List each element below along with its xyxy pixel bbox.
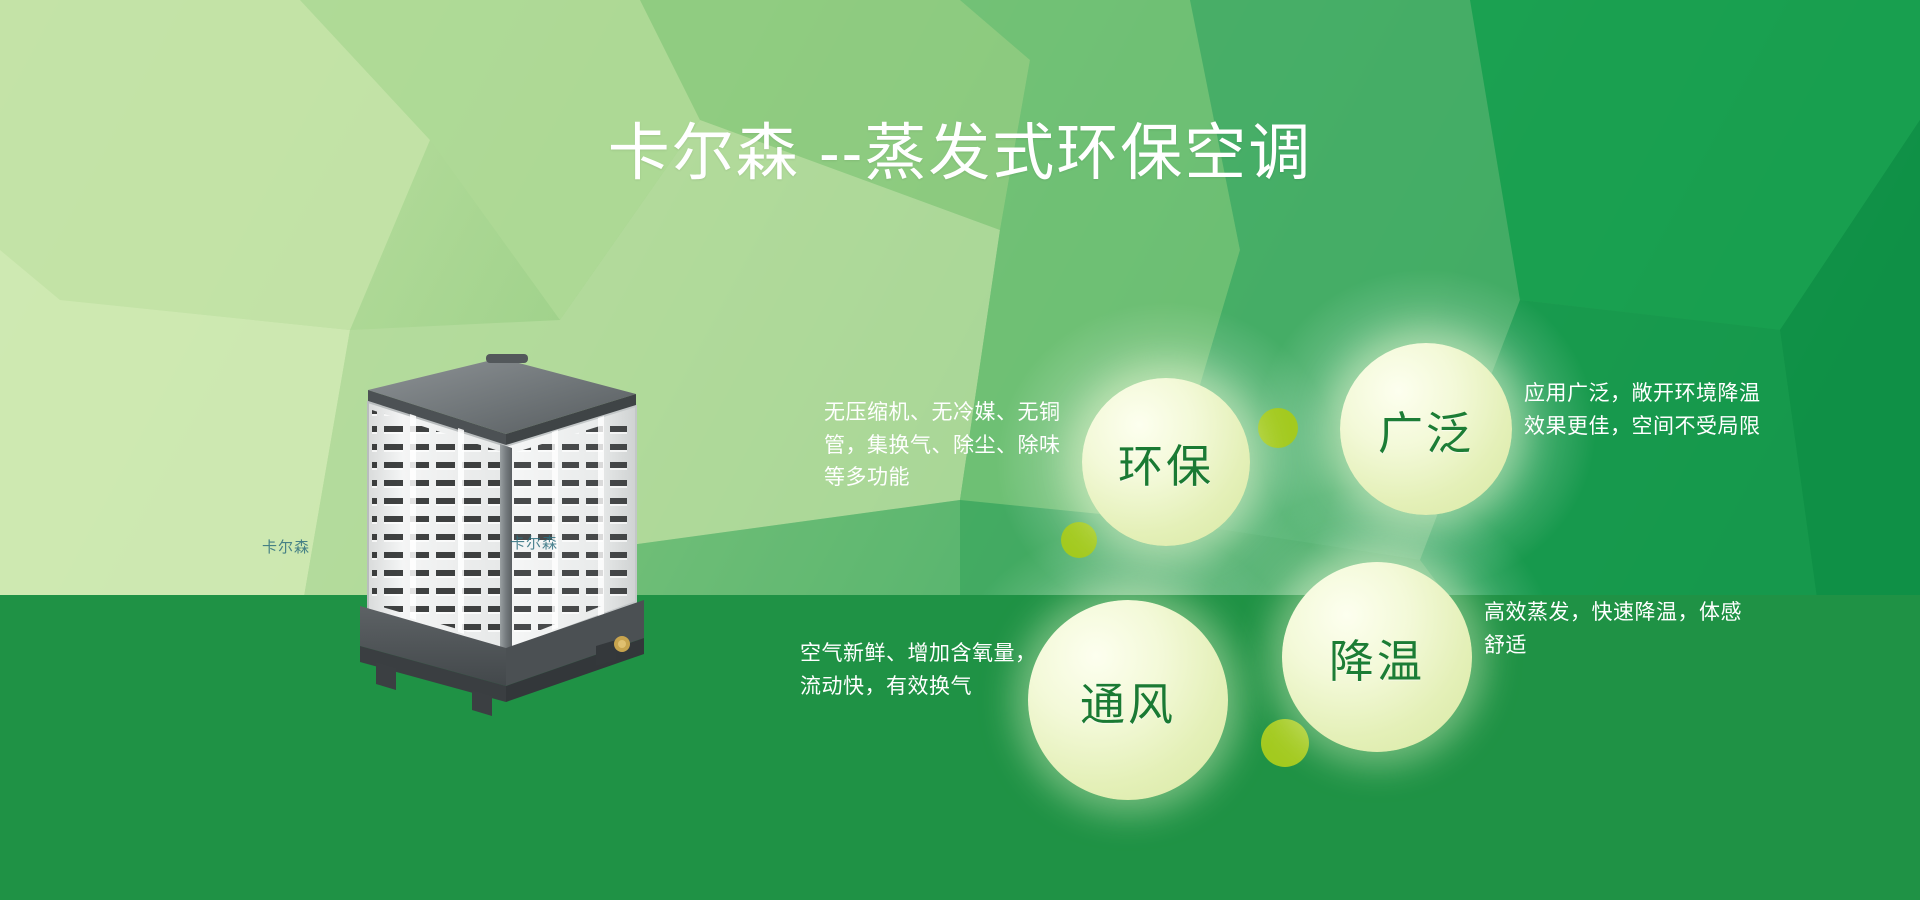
feature-caption-jiangwen: 高效蒸发，快速降温，体感舒适 — [1484, 597, 1759, 662]
product-brand-label-left: 卡尔森 — [262, 536, 310, 557]
feature-caption-huanbao: 无压缩机、无冷媒、无铜管，集换气、除尘、除味等多功能 — [824, 397, 1062, 495]
product-brand-label-right: 卡尔森 — [510, 532, 558, 553]
feature-bubble-label: 环保 — [1118, 430, 1214, 495]
page-title: 卡尔森 --蒸发式环保空调 — [0, 123, 1920, 185]
accent-dot-bottom — [1261, 719, 1309, 767]
product-image: 卡尔森 卡尔森 — [200, 350, 700, 750]
accent-dot-large — [1258, 408, 1298, 448]
feature-caption-tongfeng: 空气新鲜、增加含氧量，流动快，有效换气 — [800, 638, 1038, 703]
feature-bubble-guangfa: 广泛 — [1340, 343, 1512, 515]
feature-bubble-label: 通风 — [1080, 668, 1176, 733]
promo-banner: 卡尔森 --蒸发式环保空调 — [0, 0, 1920, 900]
feature-bubble-label: 广泛 — [1378, 397, 1474, 462]
feature-bubble-huanbao: 环保 — [1082, 378, 1250, 546]
feature-bubble-label: 降温 — [1329, 625, 1425, 690]
feature-bubble-tongfeng: 通风 — [1028, 600, 1228, 800]
feature-bubble-jiangwen: 降温 — [1282, 562, 1472, 752]
accent-dot-medium — [1061, 522, 1097, 558]
feature-caption-guangfa: 应用广泛，敞开环境降温效果更佳，空间不受局限 — [1524, 378, 1774, 443]
